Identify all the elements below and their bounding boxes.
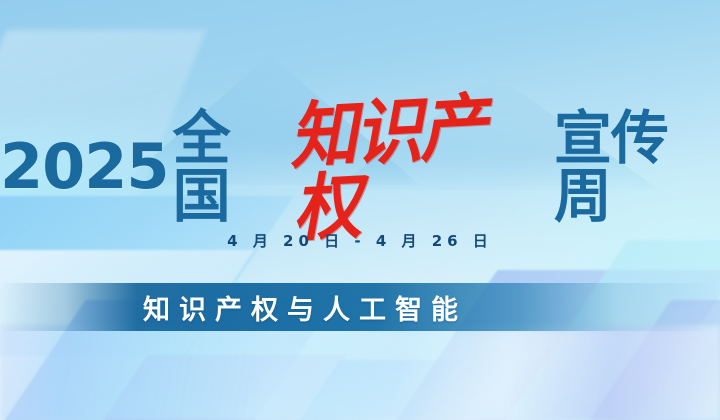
headline-prefix: 全国	[173, 109, 284, 225]
ip-week-banner: 2025 全国 知识产权 宣传周 4 月 20 日 - 4 月 26 日 知识产…	[0, 0, 720, 420]
shard-highlight-sweep	[206, 330, 720, 420]
banner-subtitle: 知识产权与人工智能	[143, 288, 467, 327]
shard-left-4	[53, 355, 347, 420]
shard-center-bottom	[260, 360, 461, 420]
headline-year: 2025	[0, 136, 169, 198]
banner-headline: 2025 全国 知识产权 宣传周	[0, 124, 720, 210]
shard-left-2	[0, 250, 254, 420]
headline-highlight: 知识产权	[288, 88, 548, 245]
banner-date-range: 4 月 20 日 - 4 月 26 日	[0, 230, 720, 251]
bottom-stripe-band	[0, 325, 720, 420]
headline-suffix: 宣传周	[554, 109, 720, 225]
subtitle-band: 知识产权与人工智能	[0, 283, 720, 331]
